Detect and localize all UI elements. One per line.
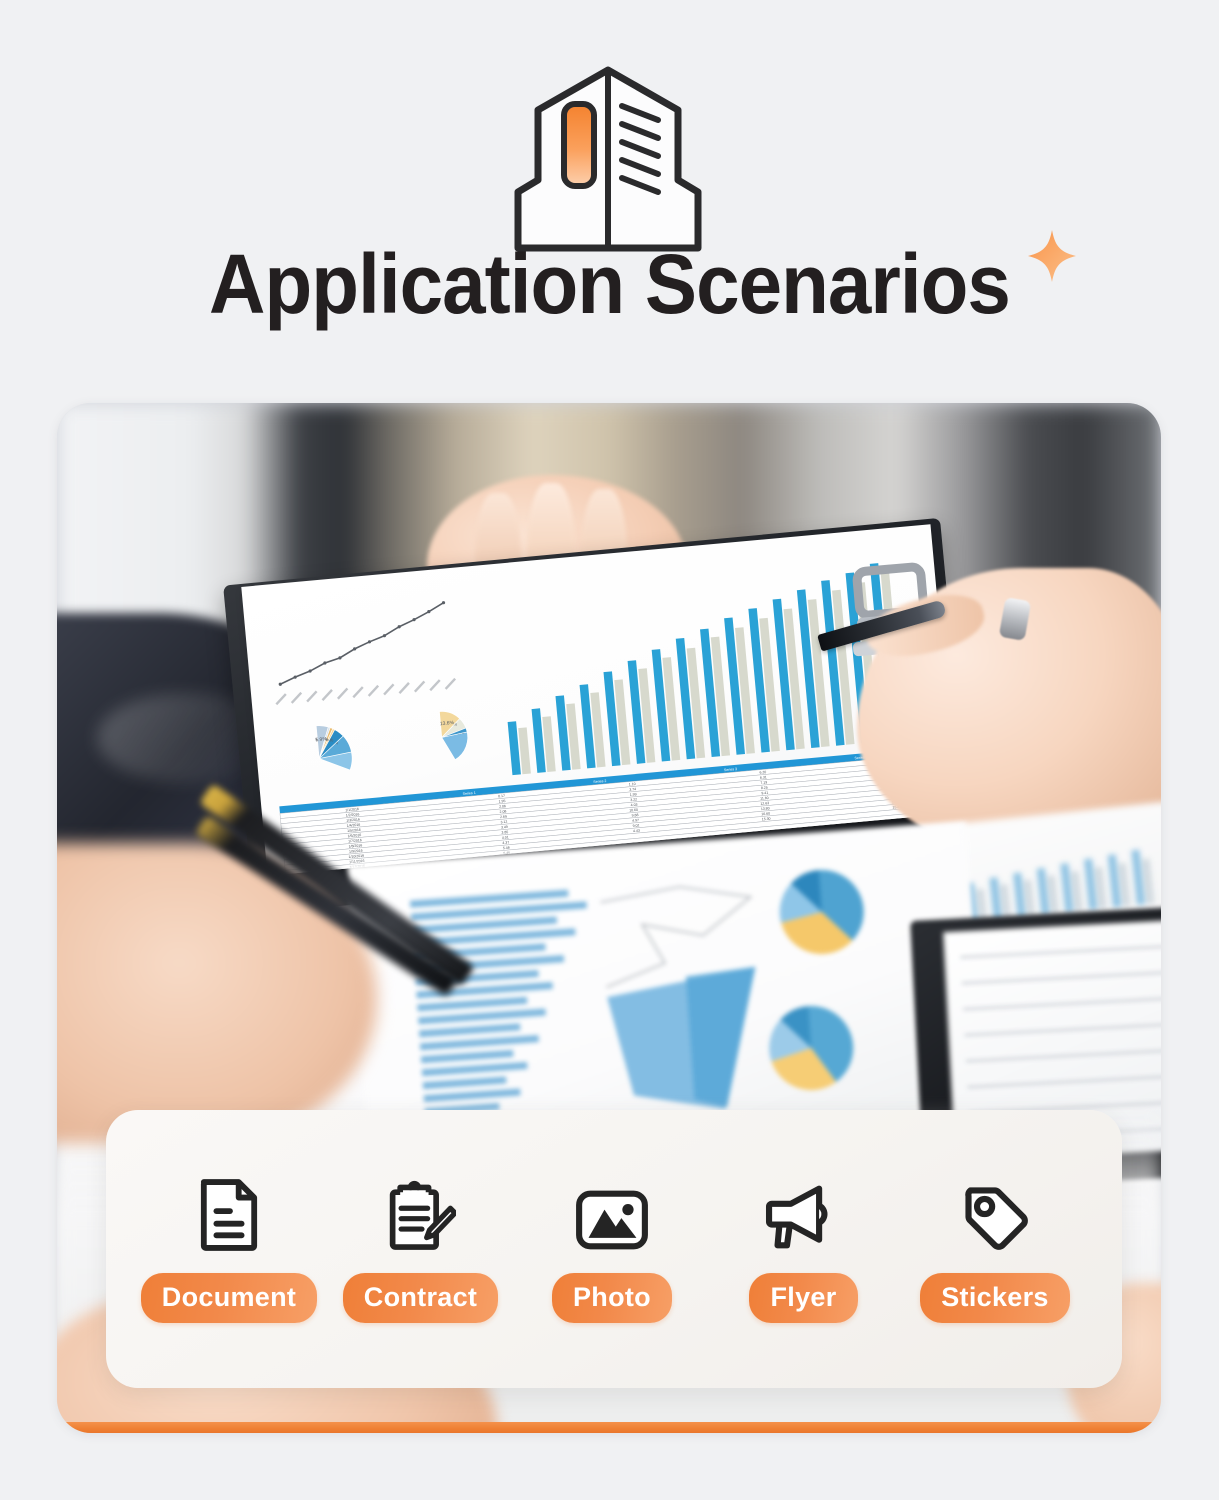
badge-label-stickers[interactable]: Stickers: [920, 1273, 1069, 1323]
svg-text:2.08: 2.08: [499, 809, 506, 814]
svg-text:8.25: 8.25: [761, 786, 768, 791]
badge-photo[interactable]: Photo: [523, 1175, 701, 1323]
badge-contract[interactable]: Contract: [332, 1175, 510, 1323]
megaphone-icon: [764, 1175, 844, 1251]
svg-text:1.10: 1.10: [629, 782, 636, 787]
svg-text:3.12: 3.12: [500, 820, 507, 825]
svg-text:4.43: 4.43: [633, 829, 640, 834]
svg-text:3.22: 3.22: [630, 797, 637, 802]
svg-text:4.97: 4.97: [632, 818, 639, 823]
document-page-icon: [198, 1175, 260, 1251]
business-meeting-clipboard-photo: 32.1%23.2%14.4%9.3%8.2%6.9%5.9%42.8%23.1…: [57, 403, 1161, 1433]
svg-text:3.49: 3.49: [501, 825, 508, 830]
svg-text:13.80: 13.80: [761, 806, 770, 811]
image-picture-icon: [574, 1175, 650, 1251]
svg-text:9.88: 9.88: [631, 813, 638, 818]
badge-label-document[interactable]: Document: [141, 1273, 317, 1323]
building-tower-icon: [492, 62, 724, 252]
svg-text:4.37: 4.37: [502, 840, 509, 845]
svg-text:2.69: 2.69: [500, 815, 507, 820]
svg-text:4.03: 4.03: [631, 803, 638, 808]
svg-text:11.60: 11.60: [760, 796, 769, 801]
price-tag-icon: [959, 1175, 1031, 1251]
svg-text:0.17: 0.17: [498, 794, 505, 799]
svg-text:10.60: 10.60: [629, 808, 638, 813]
badge-document[interactable]: Document: [140, 1175, 318, 1323]
svg-text:3.85: 3.85: [501, 830, 508, 835]
svg-text:1.95: 1.95: [498, 799, 505, 804]
scenario-badge-card: Document Contr: [106, 1110, 1122, 1388]
svg-text:6.20: 6.20: [759, 770, 766, 775]
svg-text:9.41: 9.41: [761, 791, 768, 796]
svg-text:15.30: 15.30: [762, 817, 771, 822]
svg-text:5.46: 5.46: [503, 846, 510, 851]
badge-label-flyer[interactable]: Flyer: [749, 1273, 857, 1323]
page-title: Application Scenarios: [43, 236, 1177, 332]
svg-text:7.19: 7.19: [760, 780, 767, 785]
svg-text:2.06: 2.06: [499, 804, 506, 809]
svg-text:1.99: 1.99: [630, 792, 637, 797]
svg-text:12.63: 12.63: [760, 801, 769, 806]
svg-text:6.31: 6.31: [760, 775, 767, 780]
badge-label-contract[interactable]: Contract: [343, 1273, 498, 1323]
badge-stickers[interactable]: Stickers: [906, 1175, 1084, 1323]
svg-text:9.02: 9.02: [632, 823, 639, 828]
svg-text:16.60: 16.60: [761, 811, 770, 816]
svg-text:5.9%: 5.9%: [315, 736, 327, 743]
badge-label-photo[interactable]: Photo: [552, 1273, 672, 1323]
four-point-sparkle-icon: [1026, 228, 1078, 284]
header-section: Application Scenarios: [0, 0, 1219, 400]
badge-flyer[interactable]: Flyer: [715, 1175, 893, 1323]
clipboard-pencil-icon: [386, 1175, 456, 1251]
svg-text:4.01: 4.01: [502, 835, 509, 840]
scenario-badge-row: Document Contr: [106, 1110, 1122, 1388]
svg-text:3.74: 3.74: [629, 787, 636, 792]
